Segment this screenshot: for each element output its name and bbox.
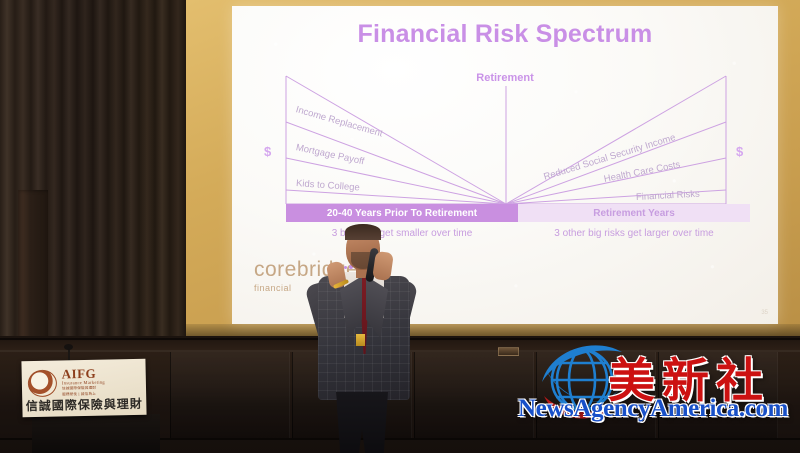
watermark-url: NewsAgencyAmerica.com bbox=[518, 395, 788, 423]
aifg-chinese-main: 信誠國際保險與理財 bbox=[22, 395, 146, 415]
wall-panel-1 bbox=[170, 352, 290, 438]
speaker-figure bbox=[300, 222, 420, 453]
speaker-name-badge bbox=[356, 334, 365, 346]
timeline-bar-retirement-years: Retirement Years bbox=[518, 204, 750, 222]
slide-title: Financial Risk Spectrum bbox=[232, 20, 778, 49]
podium bbox=[32, 414, 160, 453]
podium-mic-head-icon bbox=[64, 344, 73, 350]
caption-risks-increase: 3 other big risks get larger over time bbox=[518, 228, 750, 239]
timeline-bar-pre-retirement: 20-40 Years Prior To Retirement bbox=[286, 204, 518, 222]
aifg-brand: AIFG bbox=[62, 367, 105, 381]
speaker-hair bbox=[345, 224, 381, 240]
podium-sign-text-block: AIFG Insurance Marketing 信誠國際保險與理財 服務熱忱 … bbox=[62, 367, 106, 398]
screenshot-root: Financial Risk Spectrum Retirement $ $ bbox=[0, 0, 800, 453]
podium-sign-header: AIFG Insurance Marketing 信誠國際保險與理財 服務熱忱 … bbox=[28, 367, 106, 399]
aifg-chinese-small: 信誠國際保險與理財 bbox=[62, 386, 105, 392]
news-agency-watermark: 美新社 NewsAgencyAmerica.com bbox=[512, 338, 800, 440]
slide-number: 35 bbox=[761, 310, 768, 316]
aifg-emblem-icon bbox=[28, 369, 58, 397]
podium-sign: AIFG Insurance Marketing 信誠國際保險與理財 服務熱忱 … bbox=[21, 359, 146, 418]
aifg-tagline: Insurance Marketing bbox=[62, 380, 105, 386]
speaker-trousers bbox=[336, 392, 388, 453]
door-frame bbox=[18, 190, 48, 350]
